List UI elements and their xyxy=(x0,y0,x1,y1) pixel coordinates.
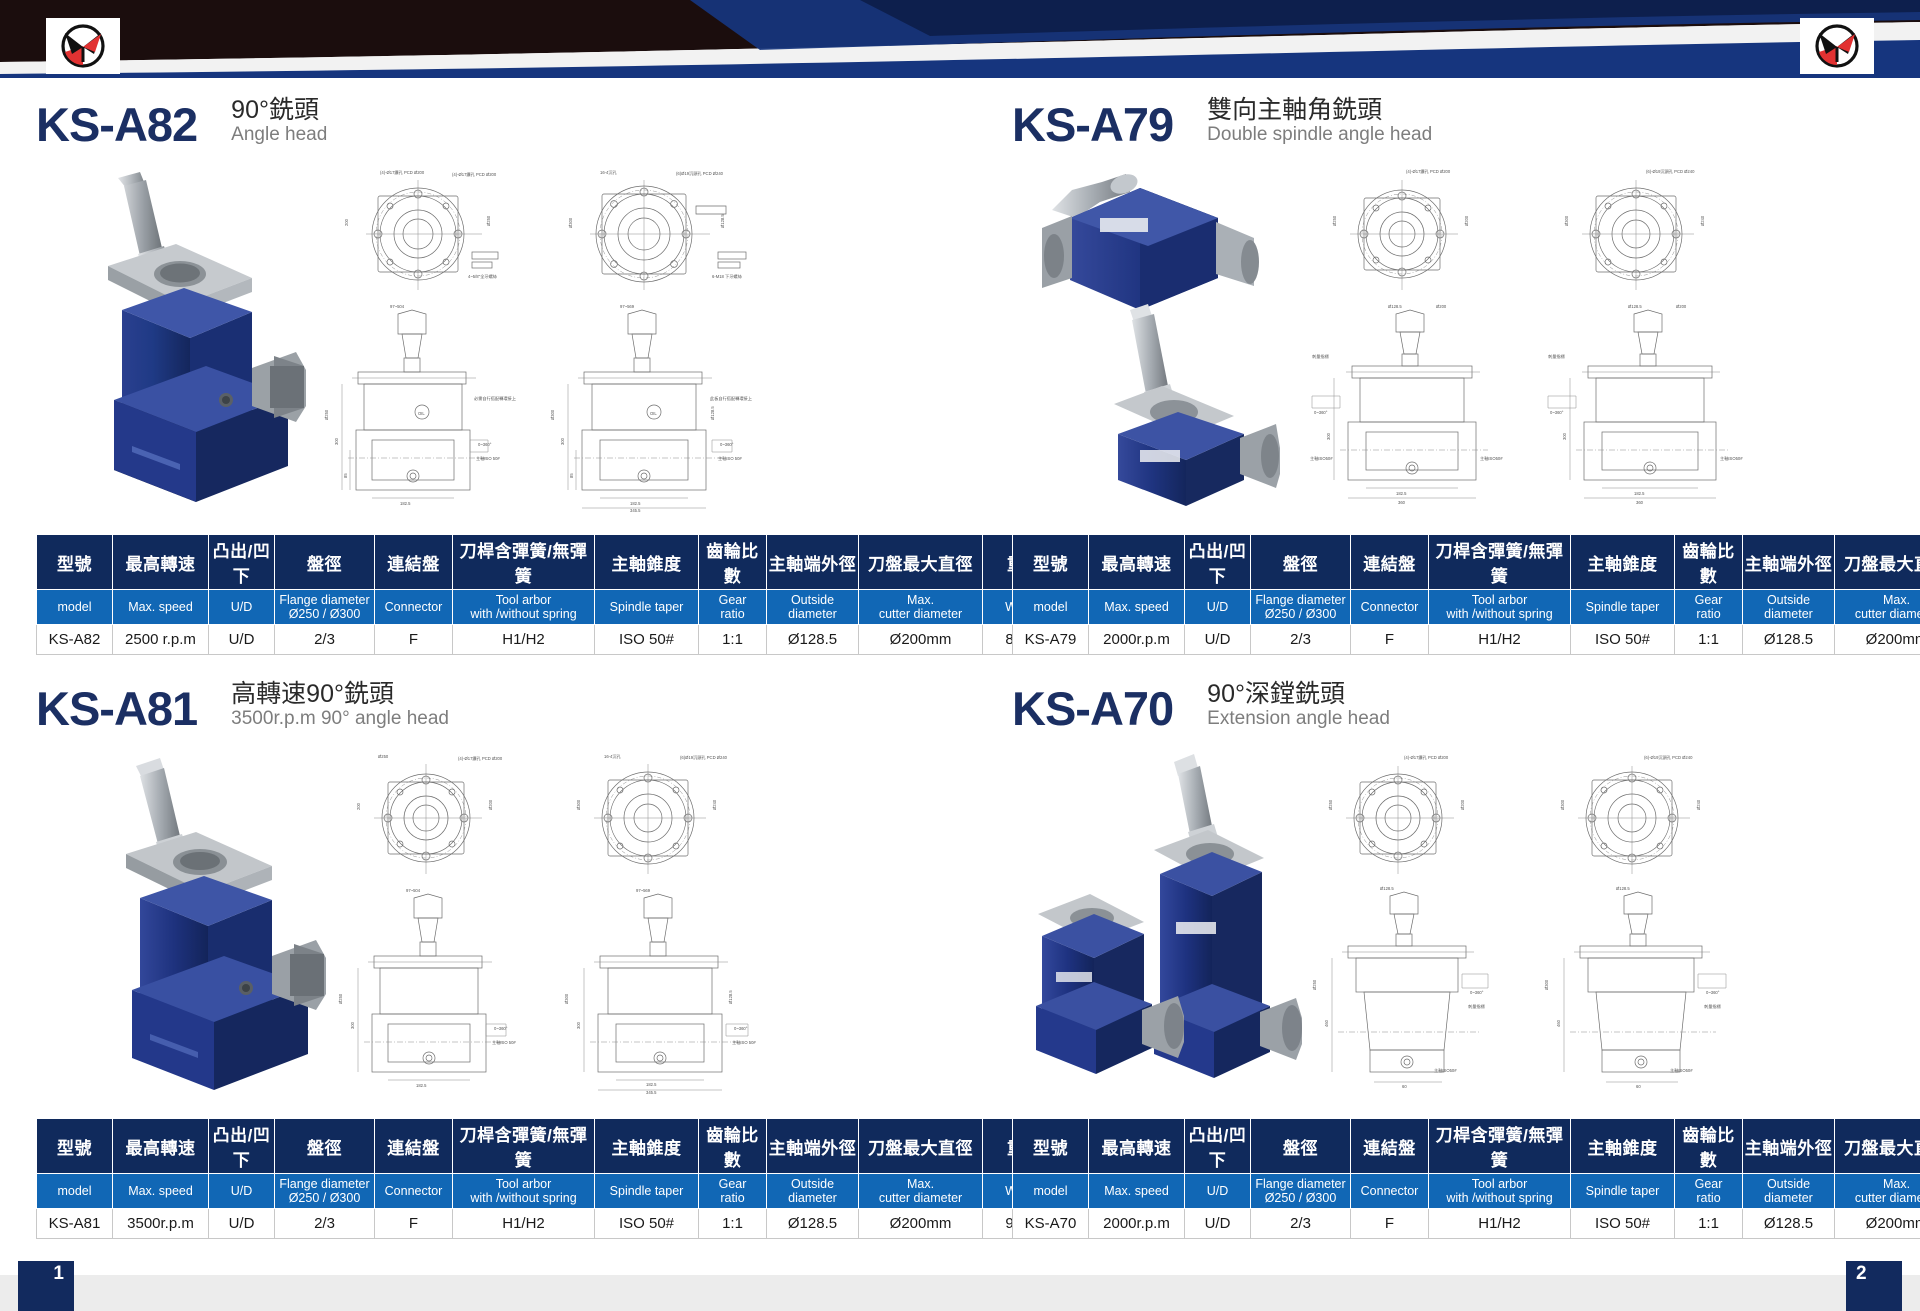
drawing-dim-text: Ø200 xyxy=(1436,304,1447,309)
drawing-dim-text: 360 xyxy=(1636,500,1644,505)
drawing-note: 0~360° xyxy=(478,442,492,447)
th-cn-tool-arbor: 刀桿含彈簧/無彈簧 xyxy=(453,1119,595,1174)
th-en-outside-dia: Outsidediameter xyxy=(767,1174,859,1209)
product-title-cn: 90°銑頭 xyxy=(231,96,327,124)
drawing-dim-text: Ø300 xyxy=(1544,979,1549,990)
th-cn-gear-ratio: 齒輪比數 xyxy=(699,535,767,590)
table-header-row-en: model Max. speed U/D Flange diameterØ250… xyxy=(1013,590,1920,625)
th-en-outside-dia: Outsidediameter xyxy=(1743,590,1835,625)
figure-area-ks-a79: (4)-Ø17鑽孔 PCD Ø200 Ø250 Ø200 (6)-Ø19沉頭孔 … xyxy=(1012,158,1920,528)
cell-connector: F xyxy=(1351,625,1429,655)
catalog-sheet: KS-A82 90°銑頭 Angle head xyxy=(0,78,1920,1240)
product-title-ks-a82: KS-A82 90°銑頭 Angle head xyxy=(36,84,966,148)
th-cn-max-speed: 最高轉速 xyxy=(1089,535,1185,590)
th-cn-ud: 凸出/凹下 xyxy=(209,1119,275,1174)
cell-flange: 2/3 xyxy=(1251,1209,1351,1239)
th-cn-outside-dia: 主軸端外徑 xyxy=(1743,535,1835,590)
cell-max-cutter: Ø200mm xyxy=(859,1209,983,1239)
th-en-max-speed: Max. speed xyxy=(1089,1174,1185,1209)
drawing-oil-label: OIL xyxy=(418,411,425,416)
cell-flange: 2/3 xyxy=(275,1209,375,1239)
cell-gear-ratio: 1:1 xyxy=(699,1209,767,1239)
drawing-note: 主軸ISO 50# xyxy=(718,455,742,462)
drawing-dim-text: Ø240 xyxy=(712,799,717,810)
th-en-ud: U/D xyxy=(209,590,275,625)
technical-drawing-flange-top-ks-a82: (4)-Ø17鑽孔 PCD Ø200 (4)-Ø17鑽孔 PCD Ø200 20 xyxy=(322,166,522,296)
th-cn-spindle-taper: 主軸錐度 xyxy=(595,1119,699,1174)
cell-outside-dia: Ø128.5 xyxy=(1743,625,1835,655)
drawing-label-pcd: (4)-Ø17鑽孔 PCD Ø200 xyxy=(458,755,503,762)
cell-connector: F xyxy=(1351,1209,1429,1239)
product-title-en: Double spindle angle head xyxy=(1207,124,1432,146)
product-title-cn: 高轉速90°銑頭 xyxy=(231,680,449,708)
drawing-dim-text: 300 xyxy=(350,1021,355,1029)
table-row: KS-A82 2500 r.p.m U/D 2/3 F H1/H2 ISO 50… xyxy=(37,625,1067,655)
drawing-dim-text: Ø200 xyxy=(1460,799,1465,810)
th-cn-outside-dia: 主軸端外徑 xyxy=(767,1119,859,1174)
th-cn-max-speed: 最高轉速 xyxy=(1089,1119,1185,1174)
th-en-max-cutter: Max.cutter diameter xyxy=(859,590,983,625)
drawing-dim-text: 182.5 xyxy=(1634,491,1645,496)
th-en-gear-ratio: Gearratio xyxy=(699,590,767,625)
th-en-flange: Flange diameterØ250 / Ø300 xyxy=(275,1174,375,1209)
th-en-flange: Flange diameterØ250 / Ø300 xyxy=(275,590,375,625)
th-cn-model: 型號 xyxy=(37,1119,113,1174)
th-en-outside-dia: Outsidediameter xyxy=(1743,1174,1835,1209)
th-cn-gear-ratio: 齒輪比數 xyxy=(1675,535,1743,590)
product-photo-ks-a79 xyxy=(1018,162,1318,512)
brand-logo-right xyxy=(1800,18,1874,74)
th-cn-connector: 連結盤 xyxy=(1351,1119,1429,1174)
drawing-dim-text: 182.5 xyxy=(630,501,641,506)
product-panel-ks-a70: KS-A70 90°深鏜銑頭 Extension angle head xyxy=(1012,668,1920,1239)
th-cn-max-cutter: 刀盤最大直徑 xyxy=(859,535,983,590)
cell-outside-dia: Ø128.5 xyxy=(1743,1209,1835,1239)
table-header-row-en: model Max. speed U/D Flange diameterØ250… xyxy=(37,1174,1067,1209)
page-banner xyxy=(0,0,1920,78)
table-header-row-cn: 型號 最高轉速 凸出/凹下 盤徑 連結盤 刀桿含彈簧/無彈簧 主軸錐度 齒輪比數… xyxy=(37,1119,1067,1174)
cell-outside-dia: Ø128.5 xyxy=(767,1209,859,1239)
th-en-max-cutter: Max.cutter diameter xyxy=(1835,590,1920,625)
drawing-dim-text: Ø200 xyxy=(488,799,493,810)
product-title-en: 3500r.p.m 90° angle head xyxy=(231,708,449,730)
drawing-note: 主軸ISO50# xyxy=(1670,1067,1693,1074)
cell-max-speed: 2000r.p.m xyxy=(1089,1209,1185,1239)
th-en-max-cutter: Max.cutter diameter xyxy=(859,1174,983,1209)
th-en-connector: Connector xyxy=(1351,590,1429,625)
technical-drawing-flange-ks-a70: (4)-Ø17鑽孔 PCD Ø200 Ø250 Ø200 xyxy=(1308,750,1504,880)
th-cn-connector: 連結盤 xyxy=(375,535,453,590)
brand-logo-left xyxy=(46,18,120,74)
table-row: KS-A70 2000r.p.m U/D 2/3 F H1/H2 ISO 50#… xyxy=(1013,1209,1920,1239)
drawing-note: 主軸ISO50# xyxy=(1434,1067,1457,1074)
drawing-note: 刺量指標 xyxy=(1548,353,1566,360)
th-cn-ud: 凸出/凹下 xyxy=(1185,1119,1251,1174)
table-header-row-en: model Max. speed U/D Flange diameterØ250… xyxy=(37,590,1067,625)
technical-drawing-section2-ks-a79: Ø128.5 Ø200 300 182.5 360 刺量指標 0~36 xyxy=(1546,300,1762,506)
drawing-dim-text: Ø250 xyxy=(1332,215,1337,226)
th-cn-gear-ratio: 齒輪比數 xyxy=(699,1119,767,1174)
y-mark-logo-icon xyxy=(1808,21,1866,71)
drawing-dim-text: Ø200 xyxy=(1464,215,1469,226)
drawing-dim-text: Ø300 xyxy=(568,217,573,228)
drawing-label-dim: 16-4沉孔 xyxy=(600,169,618,176)
drawing-dim-text: Ø128.5 xyxy=(1616,886,1630,891)
drawing-note: 0~360° xyxy=(720,442,734,447)
th-en-gear-ratio: Gearratio xyxy=(1675,1174,1743,1209)
th-en-gear-ratio: Gearratio xyxy=(699,1174,767,1209)
drawing-dim-text: Ø128.5 xyxy=(720,214,725,228)
cell-max-cutter: Ø200mm xyxy=(1835,1209,1920,1239)
drawing-dim-text: Ø300 xyxy=(564,993,569,1004)
table-header-row-cn: 型號 最高轉速 凸出/凹下 盤徑 連結盤 刀桿含彈簧/無彈簧 主軸錐度 齒輪比數… xyxy=(1013,535,1920,590)
drawing-dim-text: 200 xyxy=(344,218,349,226)
drawing-dim-text: Ø250 xyxy=(338,993,343,1004)
y-mark-logo-icon xyxy=(54,21,112,71)
th-en-gear-ratio: Gearratio xyxy=(1675,590,1743,625)
cell-gear-ratio: 1:1 xyxy=(1675,625,1743,655)
table-row: KS-A79 2000r.p.m U/D 2/3 F H1/H2 ISO 50#… xyxy=(1013,625,1920,655)
drawing-dim-text: 182.5 xyxy=(1396,491,1407,496)
drawing-label-pcd: (6)Ø19沉頭孔 PCD Ø240 xyxy=(676,170,724,177)
th-en-connector: Connector xyxy=(375,1174,453,1209)
drawing-dim-text: Ø240 xyxy=(1696,799,1701,810)
spec-table-ks-a79: 型號 最高轉速 凸出/凹下 盤徑 連結盤 刀桿含彈簧/無彈簧 主軸錐度 齒輪比數… xyxy=(1012,534,1920,655)
product-title-ks-a81: KS-A81 高轉速90°銑頭 3500r.p.m 90° angle head xyxy=(36,668,966,732)
th-cn-flange: 盤徑 xyxy=(275,535,375,590)
technical-drawing-section-ks-a82: 97~504 OIL 300 xyxy=(312,300,522,512)
drawing-dim-text: Ø250 xyxy=(1312,979,1317,990)
product-title-ks-a70: KS-A70 90°深鏜銑頭 Extension angle head xyxy=(1012,668,1920,732)
drawing-dim-text: Ø128.5 xyxy=(1380,886,1394,891)
table-header-row-cn: 型號 最高轉速 凸出/凹下 盤徑 連結盤 刀桿含彈簧/無彈簧 主軸錐度 齒輪比數… xyxy=(37,535,1067,590)
technical-drawing-section-ks-a70: Ø128.5 460 Ø250 60 0~360° 刺量指標 xyxy=(1302,882,1516,1094)
drawing-dim-text: 60 xyxy=(1636,1084,1641,1089)
cell-spindle-taper: ISO 50# xyxy=(1571,1209,1675,1239)
product-code: KS-A81 xyxy=(36,685,197,732)
figure-area-ks-a70: (4)-Ø17鑽孔 PCD Ø200 Ø250 Ø200 (6)-Ø19沉頭孔 … xyxy=(1012,742,1920,1112)
drawing-dim-text: Ø128.5 xyxy=(1628,304,1642,309)
drawing-dim-text: Ø200 xyxy=(1676,304,1687,309)
drawing-dim-text: 200 xyxy=(356,802,361,810)
cell-ud: U/D xyxy=(209,1209,275,1239)
drawing-dim-text: 360 xyxy=(1398,500,1406,505)
th-cn-gear-ratio: 齒輪比數 xyxy=(1675,1119,1743,1174)
product-title-ks-a79: KS-A79 雙向主軸角銑頭 Double spindle angle head xyxy=(1012,84,1920,148)
th-cn-connector: 連結盤 xyxy=(375,1119,453,1174)
th-cn-spindle-taper: 主軸錐度 xyxy=(595,535,699,590)
th-cn-tool-arbor: 刀桿含彈簧/無彈簧 xyxy=(1429,535,1571,590)
th-cn-tool-arbor: 刀桿含彈簧/無彈簧 xyxy=(453,535,595,590)
drawing-dim-text: Ø300 xyxy=(1560,799,1565,810)
drawing-dim-text: 97~569 xyxy=(636,888,651,893)
technical-drawing-flange-ks-a81: Ø250 (4)-Ø17鑽孔 PCD Ø200 200 Ø200 xyxy=(338,750,528,880)
cell-tool-arbor: H1/H2 xyxy=(453,625,595,655)
th-cn-outside-dia: 主軸端外徑 xyxy=(1743,1119,1835,1174)
drawing-dim-text: 85 xyxy=(343,473,348,478)
th-en-flange: Flange diameterØ250 / Ø300 xyxy=(1251,590,1351,625)
cell-outside-dia: Ø128.5 xyxy=(767,625,859,655)
th-en-model: model xyxy=(37,590,113,625)
drawing-note: 0~360° xyxy=(734,1026,748,1031)
banner-swoosh-graphic xyxy=(0,0,1920,78)
technical-drawing-section2-ks-a81: 97~569 300 Ø300 Ø128.5 182.5 345.5 xyxy=(556,884,774,1094)
drawing-dim-text: Ø240 xyxy=(1700,215,1705,226)
drawing-dim-text: 300 xyxy=(334,437,339,445)
th-cn-max-speed: 最高轉速 xyxy=(113,1119,209,1174)
cell-tool-arbor: H1/H2 xyxy=(1429,1209,1571,1239)
drawing-oil-label: OIL xyxy=(650,411,657,416)
drawing-dim-text: 300 xyxy=(1326,432,1331,440)
drawing-dim-text: 182.5 xyxy=(400,501,411,506)
th-en-spindle-taper: Spindle taper xyxy=(595,590,699,625)
technical-drawing-flange-top2-ks-a82: 16-4沉孔 (6)Ø19沉頭孔 PCD Ø240 Ø300 Ø128.5 xyxy=(548,166,768,296)
drawing-dim-text: 85 xyxy=(569,473,574,478)
drawing-dim-text: 97~504 xyxy=(406,888,421,893)
drawing-dim-text: Ø128.5 xyxy=(710,406,715,420)
cell-model: KS-A81 xyxy=(37,1209,113,1239)
spec-table-ks-a70: 型號 最高轉速 凸出/凹下 盤徑 連結盤 刀桿含彈簧/無彈簧 主軸錐度 齒輪比數… xyxy=(1012,1118,1920,1239)
technical-drawing-flange2-ks-a79: (6)-Ø19沉頭孔 PCD Ø240 Ø300 Ø240 xyxy=(1546,164,1746,296)
cell-ud: U/D xyxy=(209,625,275,655)
drawing-dim-text: Ø300 xyxy=(550,409,555,420)
product-title-en: Angle head xyxy=(231,124,327,146)
th-en-spindle-taper: Spindle taper xyxy=(1571,1174,1675,1209)
drawing-dim-text: 345.5 xyxy=(646,1090,657,1094)
th-cn-ud: 凸出/凹下 xyxy=(209,535,275,590)
drawing-note: 主軸ISO 50# xyxy=(492,1039,516,1046)
cell-model: KS-A79 xyxy=(1013,625,1089,655)
drawing-dim-text: 300 xyxy=(560,437,565,445)
th-cn-max-cutter: 刀盤最大直徑 xyxy=(1835,1119,1920,1174)
drawing-note: 0~360° xyxy=(1706,990,1720,995)
th-en-max-speed: Max. speed xyxy=(113,590,209,625)
drawing-dim-text: 97~569 xyxy=(620,304,635,309)
cell-max-speed: 2500 r.p.m xyxy=(113,625,209,655)
th-en-spindle-taper: Spindle taper xyxy=(1571,590,1675,625)
th-cn-spindle-taper: 主軸錐度 xyxy=(1571,535,1675,590)
technical-drawing-flange2-ks-a81: 16-4沉孔 (6)Ø19沉頭孔 PCD Ø240 Ø300 Ø240 xyxy=(556,750,762,880)
drawing-label-pcd: (6)-Ø19沉頭孔 PCD Ø240 xyxy=(1646,168,1695,175)
table-header-row-en: model Max. speed U/D Flange diameterØ250… xyxy=(1013,1174,1920,1209)
drawing-dim-text: Ø250 xyxy=(486,215,491,226)
cell-gear-ratio: 1:1 xyxy=(1675,1209,1743,1239)
th-en-max-cutter: Max.cutter diameter xyxy=(1835,1174,1920,1209)
technical-drawing-section-ks-a81: 97~504 300 Ø250 182.5 0~360° 主軸ISO 50# xyxy=(328,884,540,1094)
drawing-dim-text: Ø300 xyxy=(1564,215,1569,226)
th-en-ud: U/D xyxy=(1185,590,1251,625)
th-en-model: model xyxy=(1013,1174,1089,1209)
th-en-flange: Flange diameterØ250 / Ø300 xyxy=(1251,1174,1351,1209)
cell-spindle-taper: ISO 50# xyxy=(595,625,699,655)
product-title-cn: 90°深鏜銑頭 xyxy=(1207,680,1390,708)
cell-ud: U/D xyxy=(1185,625,1251,655)
cell-tool-arbor: H1/H2 xyxy=(453,1209,595,1239)
product-panel-ks-a79: KS-A79 雙向主軸角銑頭 Double spindle angle head xyxy=(1012,84,1920,655)
cell-spindle-taper: ISO 50# xyxy=(1571,625,1675,655)
cell-flange: 2/3 xyxy=(1251,625,1351,655)
th-en-max-speed: Max. speed xyxy=(1089,590,1185,625)
product-title-cn: 雙向主軸角銑頭 xyxy=(1207,96,1432,124)
th-en-model: model xyxy=(1013,590,1089,625)
th-cn-connector: 連結盤 xyxy=(1351,535,1429,590)
cell-flange: 2/3 xyxy=(275,625,375,655)
drawing-dim-text: Ø300 xyxy=(576,799,581,810)
product-photo-ks-a81 xyxy=(72,756,340,1100)
th-en-tool-arbor: Tool arborwith /without spring xyxy=(1429,590,1571,625)
page-number-right: 2 xyxy=(1846,1261,1902,1311)
th-cn-outside-dia: 主軸端外徑 xyxy=(767,535,859,590)
drawing-dim-text: 460 xyxy=(1556,1019,1561,1027)
cell-max-speed: 2000r.p.m xyxy=(1089,625,1185,655)
th-en-tool-arbor: Tool arborwith /without spring xyxy=(453,1174,595,1209)
drawing-label-pcd: (6)Ø19沉頭孔 PCD Ø240 xyxy=(680,754,728,761)
drawing-label-pcd: (4)-Ø17鑽孔 PCD Ø200 xyxy=(1404,754,1449,761)
th-cn-max-cutter: 刀盤最大直徑 xyxy=(1835,535,1920,590)
drawing-note: 主軸ISO50# xyxy=(1480,455,1503,462)
cell-gear-ratio: 1:1 xyxy=(699,625,767,655)
drawing-dim-text: Ø250 xyxy=(378,754,389,759)
th-en-tool-arbor: Tool arborwith /without spring xyxy=(1429,1174,1571,1209)
product-title-en: Extension angle head xyxy=(1207,708,1390,730)
th-cn-flange: 盤徑 xyxy=(275,1119,375,1174)
figure-area-ks-a81: Ø250 (4)-Ø17鑽孔 PCD Ø200 200 Ø200 16-4沉孔 xyxy=(36,742,966,1112)
drawing-note: 刺量指標 xyxy=(1468,1003,1486,1010)
drawing-note: 刺量指標 xyxy=(1312,353,1330,360)
drawing-note: 此板自行搭配轉環接上 xyxy=(710,395,752,402)
drawing-note: 必需自行搭配轉環接上 xyxy=(474,395,516,402)
th-en-max-speed: Max. speed xyxy=(113,1174,209,1209)
th-cn-model: 型號 xyxy=(1013,535,1089,590)
cell-model: KS-A82 xyxy=(37,625,113,655)
table-row: KS-A81 3500r.p.m U/D 2/3 F H1/H2 ISO 50#… xyxy=(37,1209,1067,1239)
drawing-dim-text: Ø128.5 xyxy=(1388,304,1402,309)
drawing-label-pcd: (4)-Ø17鑽孔 PCD Ø200 xyxy=(452,171,497,178)
drawing-label-pcd: (4)-Ø17鑽孔 PCD Ø200 xyxy=(1406,168,1451,175)
th-en-model: model xyxy=(37,1174,113,1209)
th-en-ud: U/D xyxy=(209,1174,275,1209)
table-header-row-cn: 型號 最高轉速 凸出/凹下 盤徑 連結盤 刀桿含彈簧/無彈簧 主軸錐度 齒輪比數… xyxy=(1013,1119,1920,1174)
th-cn-max-speed: 最高轉速 xyxy=(113,535,209,590)
cell-model: KS-A70 xyxy=(1013,1209,1089,1239)
product-photo-ks-a70 xyxy=(1012,744,1312,1100)
technical-drawing-flange2-ks-a70: (6)-Ø19沉頭孔 PCD Ø240 Ø300 Ø240 xyxy=(1540,750,1746,880)
product-code: KS-A79 xyxy=(1012,101,1173,148)
th-en-spindle-taper: Spindle taper xyxy=(595,1174,699,1209)
cell-ud: U/D xyxy=(1185,1209,1251,1239)
product-panel-ks-a81: KS-A81 高轉速90°銑頭 3500r.p.m 90° angle head xyxy=(36,668,966,1239)
th-en-tool-arbor: Tool arborwith /without spring xyxy=(453,590,595,625)
cell-spindle-taper: ISO 50# xyxy=(595,1209,699,1239)
th-cn-flange: 盤徑 xyxy=(1251,535,1351,590)
drawing-note: 0~360° xyxy=(494,1026,508,1031)
drawing-dim-text: Ø250 xyxy=(1328,799,1333,810)
drawing-note: 刺量指標 xyxy=(1704,1003,1722,1010)
page-number-left: 1 xyxy=(18,1261,74,1311)
figure-area-ks-a82: (4)-Ø17鑽孔 PCD Ø200 (4)-Ø17鑽孔 PCD Ø200 20 xyxy=(36,158,966,528)
cell-tool-arbor: H1/H2 xyxy=(1429,625,1571,655)
drawing-note: 0~360° xyxy=(1550,410,1564,415)
product-photo-ks-a82 xyxy=(56,170,316,515)
technical-drawing-section2-ks-a70: Ø128.5 460 Ø300 60 0~360° 刺量指標 主軸IS xyxy=(1536,882,1752,1094)
drawing-dim-text: 16-4沉孔 xyxy=(604,753,622,760)
spec-table-ks-a81: 型號 最高轉速 凸出/凹下 盤徑 連結盤 刀桿含彈簧/無彈簧 主軸錐度 齒輪比數… xyxy=(36,1118,1067,1239)
th-cn-model: 型號 xyxy=(1013,1119,1089,1174)
drawing-dim-text: 460 xyxy=(1324,1019,1329,1027)
drawing-note: 主軸ISO50# xyxy=(1310,455,1333,462)
drawing-dim-text: 300 xyxy=(576,1021,581,1029)
th-cn-tool-arbor: 刀桿含彈簧/無彈簧 xyxy=(1429,1119,1571,1174)
th-en-connector: Connector xyxy=(375,590,453,625)
drawing-note: 0~360° xyxy=(1470,990,1484,995)
drawing-dim-text: 345.5 xyxy=(630,508,641,512)
drawing-dim-text: 60 xyxy=(1402,1084,1407,1089)
drawing-note: 0~360° xyxy=(1314,410,1328,415)
drawing-label-pcd: (6)-Ø19沉頭孔 PCD Ø240 xyxy=(1644,754,1693,761)
product-code: KS-A70 xyxy=(1012,685,1173,732)
drawing-note: 主軸ISO 50# xyxy=(732,1039,756,1046)
drawing-note: 主軸ISO 50# xyxy=(476,455,500,462)
drawing-note: 6-M18 下牙螺絲 xyxy=(712,273,743,280)
drawing-label-dim: (4)-Ø17鑽孔 PCD Ø200 xyxy=(380,169,425,176)
drawing-dim-text: 182.5 xyxy=(646,1082,657,1087)
drawing-dim-text: 300 xyxy=(1562,432,1567,440)
footer-band xyxy=(0,1275,1920,1311)
technical-drawing-flange-ks-a79: (4)-Ø17鑽孔 PCD Ø200 Ø250 Ø200 xyxy=(1312,164,1502,296)
th-cn-flange: 盤徑 xyxy=(1251,1119,1351,1174)
drawing-dim-text: 182.5 xyxy=(416,1083,427,1088)
th-en-outside-dia: Outsidediameter xyxy=(767,590,859,625)
cell-connector: F xyxy=(375,625,453,655)
cell-max-speed: 3500r.p.m xyxy=(113,1209,209,1239)
th-en-connector: Connector xyxy=(1351,1174,1429,1209)
technical-drawing-section-ks-a79: Ø128.5 Ø200 300 182.5 360 刺量指標 0~36 xyxy=(1308,300,1520,506)
cell-max-cutter: Ø200mm xyxy=(1835,625,1920,655)
cell-connector: F xyxy=(375,1209,453,1239)
spec-table-ks-a82: 型號 最高轉速 凸出/凹下 盤徑 連結盤 刀桿含彈簧/無彈簧 主軸錐度 齒輪比數… xyxy=(36,534,1067,655)
drawing-note: 主軸ISO50# xyxy=(1720,455,1743,462)
th-cn-ud: 凸出/凹下 xyxy=(1185,535,1251,590)
th-cn-spindle-taper: 主軸錐度 xyxy=(1571,1119,1675,1174)
th-en-ud: U/D xyxy=(1185,1174,1251,1209)
drawing-dim-text: Ø250 xyxy=(324,409,329,420)
drawing-dim-text: Ø128.5 xyxy=(728,990,733,1004)
technical-drawing-section2-ks-a82: 97~569 OIL 300 85 Ø300 Ø128.5 xyxy=(542,300,768,512)
th-cn-model: 型號 xyxy=(37,535,113,590)
product-panel-ks-a82: KS-A82 90°銑頭 Angle head xyxy=(36,84,966,655)
drawing-note: 4~5/8"全牙螺絲 xyxy=(468,273,498,280)
cell-max-cutter: Ø200mm xyxy=(859,625,983,655)
drawing-dim-text: 97~504 xyxy=(390,304,405,309)
th-cn-max-cutter: 刀盤最大直徑 xyxy=(859,1119,983,1174)
product-code: KS-A82 xyxy=(36,101,197,148)
